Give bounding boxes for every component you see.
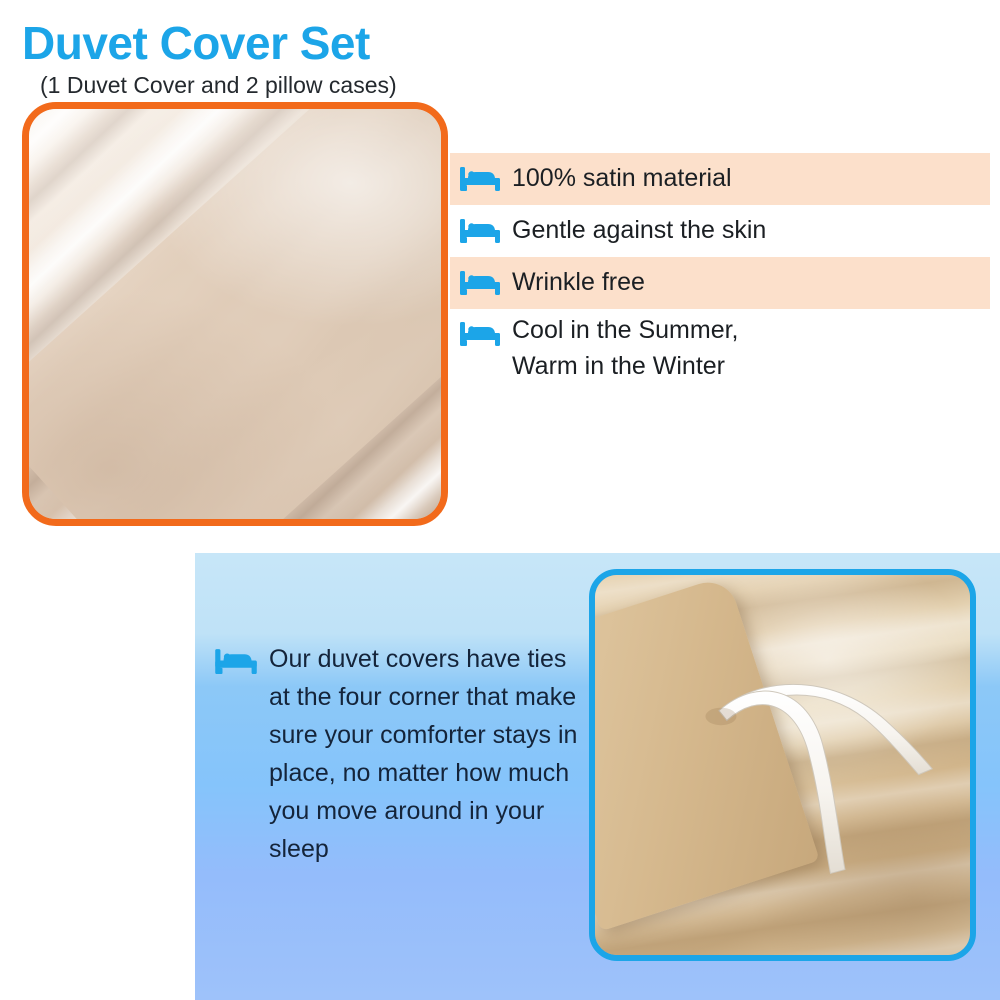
- bed-icon: [460, 217, 500, 243]
- feature-label: 100% satin material: [512, 153, 732, 196]
- bed-icon: [460, 165, 500, 191]
- feature-label: Cool in the Summer, Warm in the Winter: [512, 310, 739, 384]
- bed-icon: [460, 320, 500, 346]
- feature-row-2: Gentle against the skin: [450, 205, 990, 257]
- feature-row-4: Cool in the Summer, Warm in the Winter: [450, 309, 990, 385]
- bed-icon: [460, 269, 500, 295]
- feature-list: 100% satin material Gentle against the s…: [450, 153, 990, 385]
- feature-row-1: 100% satin material: [450, 153, 990, 205]
- ribbon-ties: [595, 575, 970, 955]
- product-infographic: Duvet Cover Set (1 Duvet Cover and 2 pil…: [0, 0, 1000, 1000]
- feature-label: Wrinkle free: [512, 257, 645, 300]
- duvet-ties-photo: [589, 569, 976, 961]
- bed-icon: [215, 647, 257, 674]
- satin-fabric-photo: [22, 102, 448, 526]
- description-block: Our duvet covers have ties at the four c…: [215, 640, 585, 868]
- description-text: Our duvet covers have ties at the four c…: [269, 640, 585, 868]
- page-subtitle: (1 Duvet Cover and 2 pillow cases): [40, 72, 397, 99]
- satin-fabric-image: [29, 109, 441, 519]
- feature-row-3: Wrinkle free: [450, 257, 990, 309]
- feature-label: Gentle against the skin: [512, 205, 766, 248]
- page-title: Duvet Cover Set: [22, 16, 370, 70]
